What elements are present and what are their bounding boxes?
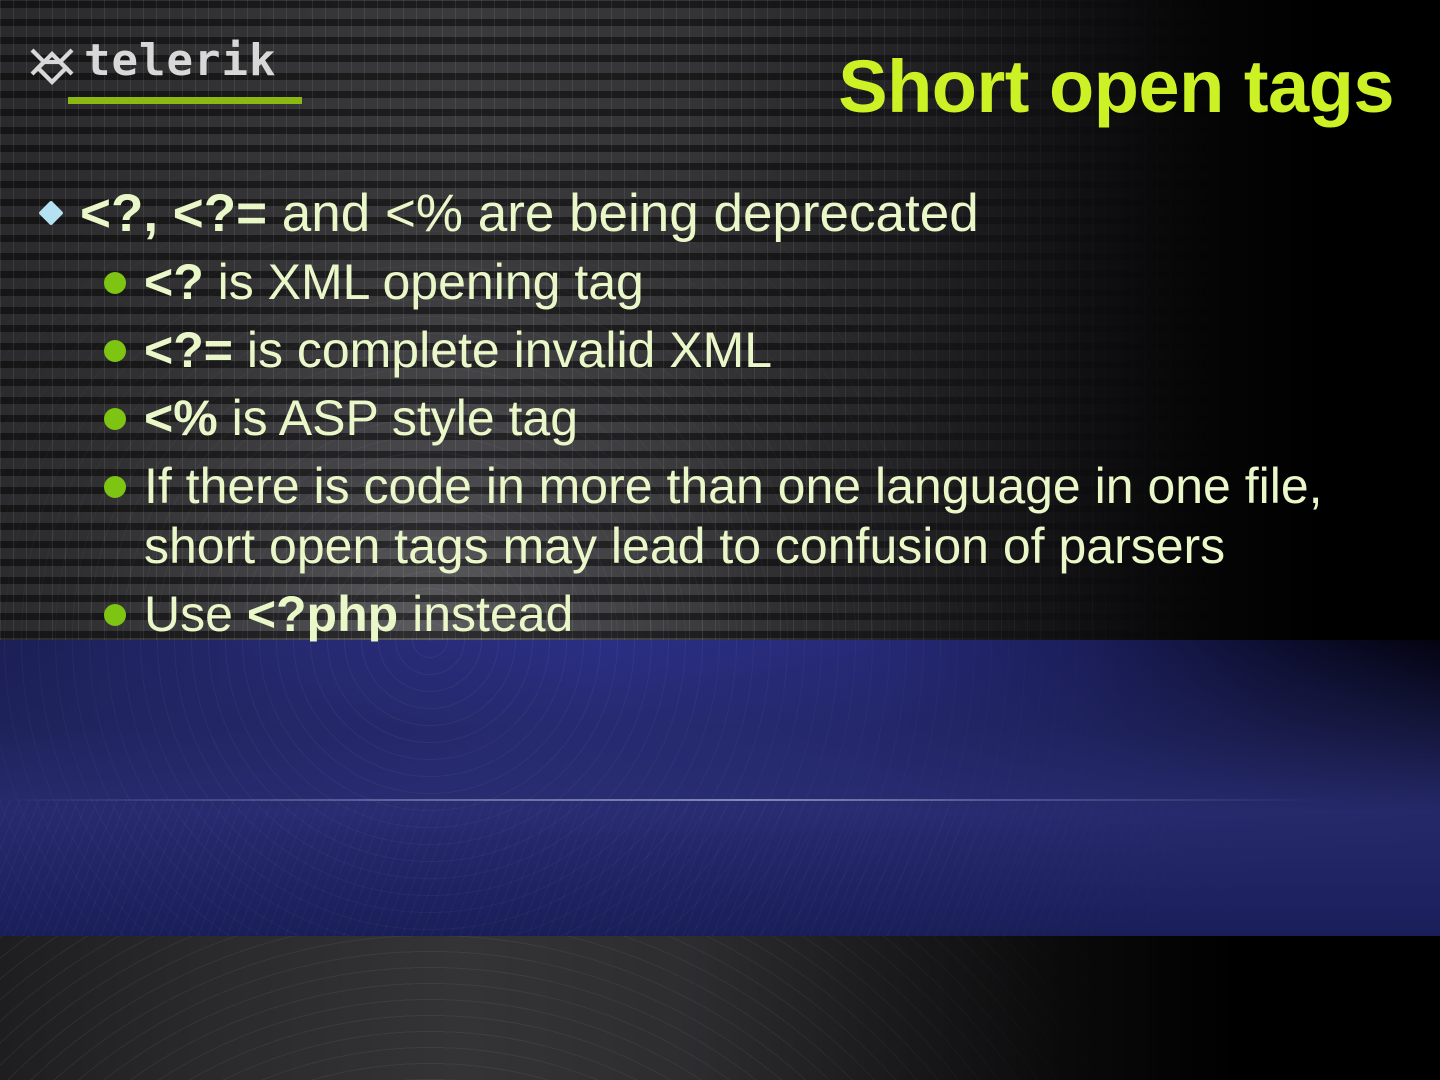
code-fragment: <? [144, 254, 204, 310]
bullet-text: <% is ASP style tag [144, 388, 1412, 448]
telerik-wordmark: telerik [84, 38, 276, 84]
code-fragment: <% [144, 390, 218, 446]
background-footer-texture [0, 936, 1440, 1080]
telerik-logo: telerik [28, 40, 288, 112]
bullet-rest: is complete invalid XML [233, 322, 772, 378]
list-item: Use <?php instead [42, 584, 1412, 644]
dot-bullet-icon [104, 604, 126, 626]
dot-bullet-icon [104, 408, 126, 430]
list-item: <% is ASP style tag [42, 388, 1412, 448]
dot-bullet-icon [104, 272, 126, 294]
telerik-diamond-icon [28, 44, 76, 88]
slide-canvas: telerik Short open tags <?, <?= and <% a… [0, 0, 1440, 1080]
logo-underline-bar [68, 97, 302, 104]
bullet-rest: and <% are being deprecated [267, 184, 979, 243]
horizontal-divider [0, 799, 1440, 801]
bullet-rest: is XML opening tag [204, 254, 644, 310]
code-fragment: <?php [247, 586, 398, 642]
dot-bullet-icon [104, 340, 126, 362]
bullet-lead: Use [144, 586, 247, 642]
list-item: <? is XML opening tag [42, 252, 1412, 312]
bullet-text: Use <?php instead [144, 584, 1412, 644]
dot-bullet-icon [104, 476, 126, 498]
bullet-text: If there is code in more than one langua… [144, 456, 1374, 576]
diamond-bullet-icon [38, 200, 63, 225]
bullet-text: <?= is complete invalid XML [144, 320, 1412, 380]
bullet-tail: instead [398, 586, 573, 642]
bullet-rest: is ASP style tag [218, 390, 578, 446]
bullet-list: <?, <?= and <% are being deprecated <? i… [42, 182, 1412, 652]
code-fragment: <?, <?= [80, 184, 267, 243]
list-item: If there is code in more than one langua… [42, 456, 1412, 576]
bullet-text: <?, <?= and <% are being deprecated [80, 182, 1412, 246]
code-fragment: <?= [144, 322, 233, 378]
bullet-text: <? is XML opening tag [144, 252, 1412, 312]
list-item: <?= is complete invalid XML [42, 320, 1412, 380]
page-title: Short open tags [838, 44, 1394, 129]
list-item: <?, <?= and <% are being deprecated [42, 182, 1412, 246]
